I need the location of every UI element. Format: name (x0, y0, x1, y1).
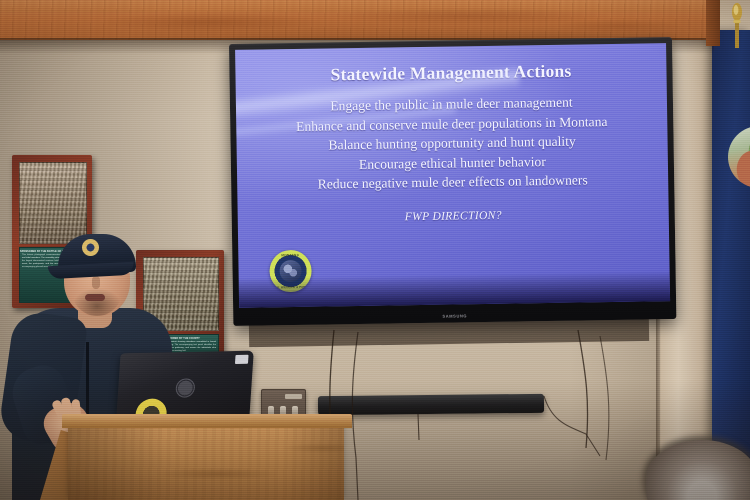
presenter-mouth (85, 294, 105, 301)
slide-bullet: Balance hunting opportunity and hunt qua… (328, 133, 576, 154)
state-seal-icon (728, 126, 750, 188)
tv-brand-label: SAMSUNG (442, 313, 467, 318)
presentation-display: Statewide Management Actions Engage the … (229, 37, 676, 326)
seal-text-top: MONTANA (269, 253, 311, 258)
seal-center (279, 260, 301, 282)
slide-title: Statewide Management Actions (330, 61, 571, 86)
slide-bullet: Encourage ethical hunter behavior (359, 153, 546, 173)
cap-patch-icon (82, 239, 99, 256)
ceiling-wood-beam (0, 0, 714, 40)
slide-question: FWP DIRECTION? (405, 209, 502, 224)
presenter-nose (92, 276, 100, 289)
slide-bullet-list: Engage the public in mule deer managemen… (296, 93, 609, 193)
laptop-label-tag (235, 355, 249, 364)
foreground-shadow (0, 380, 750, 500)
wood-grain (0, 0, 714, 40)
montana-fwp-seal-icon: MONTANA FISH, WILDLIFE & PARKS (269, 250, 312, 293)
slide-bullet: Reduce negative mule deer effects on lan… (318, 171, 588, 192)
beam-end-cap (706, 0, 720, 46)
flagpole-finial-icon (730, 2, 744, 48)
slide-bullet: Engage the public in mule deer managemen… (330, 94, 573, 115)
slide-bullet: Enhance and conserve mule deer populatio… (296, 113, 608, 135)
tv-bezel: Statewide Management Actions Engage the … (229, 37, 676, 326)
slide-screen: Statewide Management Actions Engage the … (235, 43, 670, 308)
presentation-room-photo: SPONSORED BY THE BATTLE OF THE LITTLE BI… (0, 0, 750, 500)
